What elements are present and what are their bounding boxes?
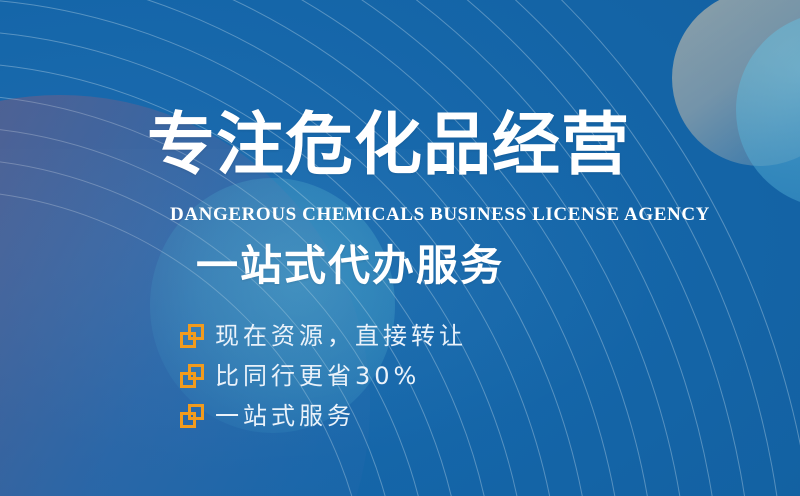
list-item-label: 现在资源，直接转让	[215, 324, 467, 348]
double-square-icon	[180, 404, 204, 428]
feature-list: 现在资源，直接转让 比同行更省30% 一站式服务	[180, 316, 467, 436]
headline-primary: 专注危化品经营	[147, 112, 630, 180]
subtitle-english: DANGEROUS CHEMICALS BUSINESS LICENSE AGE…	[170, 205, 710, 224]
list-item-label: 一站式服务	[215, 404, 355, 428]
list-item: 一站式服务	[180, 396, 467, 436]
list-item: 现在资源，直接转让	[180, 316, 467, 356]
banner-content: 专注危化品经营 DANGEROUS CHEMICALS BUSINESS LIC…	[0, 0, 800, 496]
list-item-label: 比同行更省30%	[215, 364, 420, 388]
double-square-icon	[180, 364, 204, 388]
double-square-icon	[180, 324, 204, 348]
promotional-banner: 专注危化品经营 DANGEROUS CHEMICALS BUSINESS LIC…	[0, 0, 800, 496]
headline-secondary: 一站式代办服务	[196, 245, 504, 287]
list-item: 比同行更省30%	[180, 356, 467, 396]
